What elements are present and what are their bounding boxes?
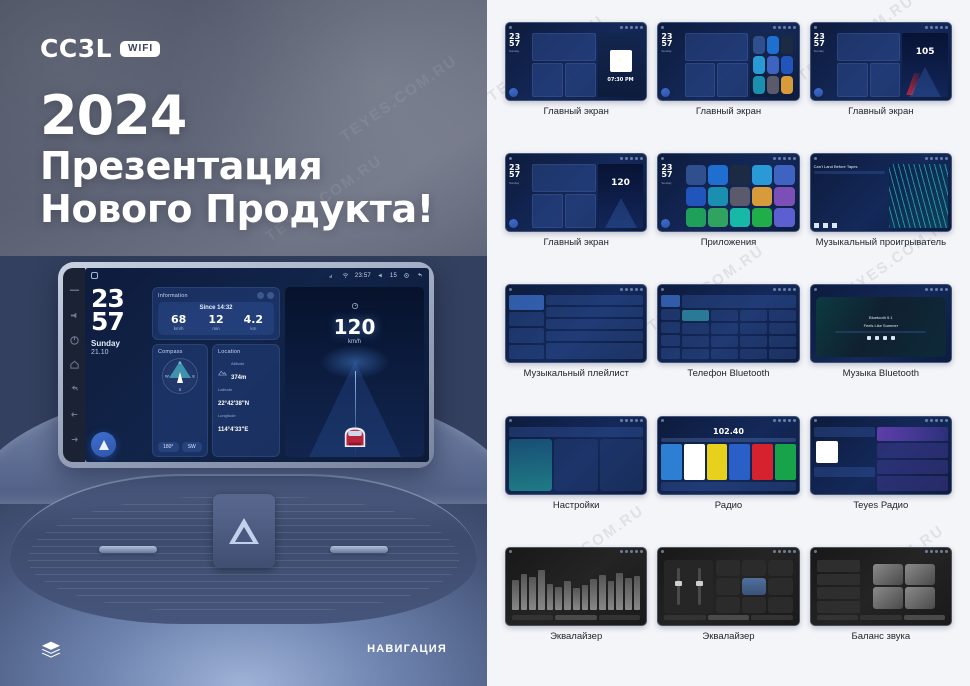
volume-up-icon[interactable] [69, 434, 80, 445]
menu-icon[interactable] [69, 285, 80, 296]
navigation-button[interactable] [509, 219, 518, 228]
volume-icon [377, 272, 384, 279]
volume-icon [935, 26, 938, 29]
preset-row[interactable] [817, 560, 861, 572]
screen-thumbnail[interactable]: Bluetooth 5.1Feels Like Summer [810, 284, 952, 363]
preset-row[interactable] [817, 601, 861, 613]
player-controls[interactable] [814, 467, 876, 477]
settings-tab[interactable] [661, 348, 680, 359]
keypad-key[interactable] [769, 336, 796, 347]
screen-thumbnail[interactable]: 2357Sunday07:30 PM [505, 22, 647, 101]
recents-tab[interactable] [661, 322, 680, 333]
app-icon[interactable] [708, 187, 728, 206]
eq-tab[interactable] [512, 615, 553, 620]
eq-slider[interactable] [625, 578, 632, 610]
wifi-icon [925, 288, 928, 291]
gallery-item-balance[interactable]: Баланс звука [810, 547, 952, 672]
preset-button[interactable] [716, 597, 740, 613]
keypad-key[interactable] [682, 310, 709, 321]
location-longitude-row: Longitude 114°4'33"E [218, 413, 274, 436]
preset-button[interactable] [742, 578, 766, 594]
keypad-key[interactable] [682, 336, 709, 347]
speaker-rear-right[interactable] [905, 587, 935, 609]
station-row[interactable] [877, 460, 948, 475]
stop-icon[interactable] [883, 336, 887, 340]
eq-slider[interactable] [616, 573, 623, 610]
balance-screen[interactable] [814, 558, 948, 622]
gear-icon [940, 157, 943, 160]
track-time: 07:30 PM [598, 77, 644, 83]
location-altitude-row: Altitude 374m [218, 361, 274, 384]
home-icon [509, 288, 512, 291]
thumb-content [658, 556, 798, 625]
tuning-scale[interactable] [661, 438, 795, 442]
road-speed-widget[interactable]: 120 [598, 164, 644, 228]
compass-direction: SW [182, 442, 203, 452]
bottom-bar: НАВИГАЦИЯ [0, 612, 487, 686]
gear-icon [788, 419, 791, 422]
eq-slider[interactable] [590, 579, 597, 610]
eq-slider[interactable] [582, 585, 589, 610]
favorites-tab[interactable] [661, 335, 680, 346]
balance-tabs[interactable] [814, 615, 948, 622]
play-pause-icon[interactable] [823, 223, 828, 228]
navigation-button[interactable] [661, 88, 670, 97]
home-icon[interactable] [91, 272, 98, 279]
screen-caption: Баланс звука [852, 631, 911, 643]
eq-tab[interactable] [599, 615, 640, 620]
screen-thumbnail[interactable] [657, 284, 799, 363]
now-playing[interactable] [814, 427, 876, 491]
eq-tabs[interactable] [509, 615, 643, 622]
radio-presets[interactable] [661, 444, 795, 480]
balance-presets[interactable] [817, 560, 861, 613]
radio-toolbar[interactable] [661, 482, 795, 491]
screen-thumbnail[interactable] [505, 416, 647, 495]
screens-grid: 2357Sunday07:30 PMГлавный экран2357Sunda… [505, 22, 952, 672]
track-row[interactable] [546, 295, 643, 305]
keypad-key[interactable] [711, 323, 738, 334]
clock-weekday: Sunday [91, 339, 147, 348]
navigation-button[interactable] [814, 88, 823, 97]
preset-tile[interactable] [661, 444, 682, 480]
eq-slider[interactable] [547, 584, 554, 610]
eq-slider[interactable] [529, 577, 536, 610]
information-card[interactable]: Information Since 14:32 68 [152, 287, 280, 340]
clock-icon [778, 26, 781, 29]
screen-thumbnail[interactable] [810, 416, 952, 495]
screen-caption: Главный экран [848, 106, 913, 118]
clock-widget[interactable]: 23 57 Sunday 21.10 [91, 287, 147, 457]
settings-screen[interactable] [509, 427, 643, 491]
keypad-key[interactable] [740, 349, 767, 360]
more-card[interactable] [600, 439, 643, 491]
location-title: Location [218, 349, 274, 355]
compass-north-label: N [179, 360, 182, 365]
preset-tile[interactable] [684, 444, 705, 480]
station-row[interactable] [877, 427, 948, 442]
gear-icon [940, 288, 943, 291]
preset-button[interactable] [716, 578, 740, 594]
preset-row[interactable] [817, 587, 861, 599]
eq-sliders[interactable] [664, 560, 713, 613]
compass-card[interactable]: Compass N E S W 180° [152, 344, 208, 457]
gallery-item-eq-2[interactable]: Эквалайзер [657, 547, 799, 672]
gear-icon[interactable] [403, 272, 410, 279]
screen-thumbnail[interactable]: 2357Sunday120 [505, 153, 647, 232]
screen-thumbnail[interactable]: 2357Sunday105 [810, 22, 952, 101]
equalizer-screen[interactable] [661, 558, 795, 622]
player-info[interactable]: Can't Land Before Tapes [814, 164, 887, 228]
screen-caption: Эквалайзер [550, 631, 602, 643]
gallery-item-home-3[interactable]: 2357Sunday105Главный экран [810, 22, 952, 147]
preset-button[interactable] [742, 560, 766, 576]
keypad-key[interactable] [740, 336, 767, 347]
home-icon [814, 550, 817, 553]
road-speed-widget[interactable]: 120 km/h [285, 287, 424, 457]
app-icon[interactable] [752, 187, 772, 206]
back-icon[interactable] [416, 272, 423, 279]
contacts-tab[interactable] [661, 309, 680, 320]
thumb-clock-date: Sunday [509, 49, 530, 53]
radio-tabs[interactable] [814, 427, 876, 437]
screen-thumbnail[interactable] [505, 284, 647, 363]
eq-presets[interactable] [716, 560, 793, 613]
back-icon [640, 550, 643, 553]
keypad-key[interactable] [711, 336, 738, 347]
keypad-key[interactable] [740, 310, 767, 321]
information-title: Information [158, 293, 188, 299]
home-icon [509, 157, 512, 160]
screen-body: 23 57 Sunday 21.10 Information [85, 283, 429, 462]
gallery-item-radio[interactable]: 102.40Радио [657, 416, 799, 541]
radio-screen[interactable]: 102.40 [661, 427, 795, 491]
eq-slider[interactable] [634, 576, 641, 610]
location-card[interactable] [565, 194, 596, 228]
visualizer [889, 164, 948, 228]
volume-icon [783, 419, 786, 422]
eq-slider[interactable] [512, 580, 519, 610]
eq-slider[interactable] [677, 568, 680, 606]
thumb-clock-date: Sunday [814, 49, 835, 53]
eq-tab[interactable] [708, 615, 749, 620]
screen-thumbnail[interactable]: 2357Sunday [657, 153, 799, 232]
preset-button[interactable] [742, 597, 766, 613]
eq-tab[interactable] [664, 615, 705, 620]
app-icon[interactable] [686, 187, 706, 206]
app-shortcuts[interactable] [750, 33, 796, 97]
screen-thumbnail[interactable] [505, 547, 647, 626]
screen-caption: Музыкальный проигрыватель [816, 237, 946, 249]
gear-icon [940, 26, 943, 29]
navigation-button[interactable] [661, 219, 670, 228]
information-card[interactable] [837, 33, 900, 61]
eq-slider[interactable] [698, 568, 701, 606]
keypad-key[interactable] [769, 349, 796, 360]
keypad-key[interactable] [740, 323, 767, 334]
track-row[interactable] [546, 331, 643, 341]
app-icon[interactable] [781, 56, 793, 74]
gallery-item-music-player[interactable]: Can't Land Before TapesМузыкальный проиг… [810, 153, 952, 278]
carplay-card[interactable] [554, 439, 597, 491]
back-icon [945, 157, 948, 160]
keypad[interactable] [682, 310, 796, 359]
speaker-front-left[interactable] [873, 564, 903, 586]
track-row[interactable] [546, 319, 643, 329]
compass-card[interactable] [532, 194, 563, 228]
previous-icon[interactable] [814, 223, 819, 228]
track-list[interactable] [546, 295, 643, 359]
gallery-item-apps[interactable]: 2357SundayПриложения [657, 153, 799, 278]
next-icon[interactable] [832, 223, 837, 228]
layers-icon[interactable] [40, 640, 62, 658]
screen-thumbnail[interactable]: 102.40 [657, 416, 799, 495]
keypad-key[interactable] [711, 349, 738, 360]
widget-row: Compass N E S W 180° [152, 344, 280, 457]
screen-thumbnail[interactable] [810, 547, 952, 626]
thumb-status-bar [506, 154, 646, 162]
thumb-clock: 2357Sunday [509, 33, 530, 97]
power-icon[interactable] [69, 335, 80, 346]
next-icon[interactable] [891, 336, 895, 340]
eq-tab[interactable] [751, 615, 792, 620]
clock-icon [778, 288, 781, 291]
home-icon[interactable] [69, 359, 80, 370]
app-icon[interactable] [767, 76, 779, 94]
screen-thumbnail[interactable]: Can't Land Before Tapes [810, 153, 952, 232]
keypad-key[interactable] [769, 310, 796, 321]
wifi-icon [773, 550, 776, 553]
speaker-rear-left[interactable] [873, 587, 903, 609]
eq-slider[interactable] [608, 581, 615, 610]
thumb-clock-date: Sunday [661, 181, 682, 185]
thumb-widgets [532, 33, 595, 97]
location-card[interactable] [717, 63, 748, 97]
gallery-item-music-playlist[interactable]: Музыкальный плейлист [505, 284, 647, 409]
trip-metric: 4.2 km [235, 314, 272, 331]
clock-icon [625, 419, 628, 422]
preset-tile[interactable] [707, 444, 728, 480]
preset-button[interactable] [768, 560, 792, 576]
app-icon[interactable] [752, 208, 772, 227]
wifi-icon [620, 550, 623, 553]
app-icon[interactable] [730, 187, 750, 206]
keypad-key[interactable] [682, 349, 709, 360]
list-item[interactable] [509, 345, 544, 360]
speed-value: 120 [598, 178, 644, 188]
eq-slider[interactable] [538, 570, 545, 610]
road-speed-widget[interactable]: 105 [902, 33, 948, 97]
wifi-card[interactable] [509, 439, 552, 491]
volume-icon[interactable] [69, 310, 80, 321]
compass-dial: N E S W [162, 358, 198, 394]
app-icon[interactable] [753, 76, 765, 94]
list-item[interactable] [509, 295, 544, 310]
compass-card[interactable] [685, 63, 716, 97]
navigation-button[interactable] [509, 88, 518, 97]
bluetooth-player[interactable]: Bluetooth 5.1Feels Like Summer [816, 297, 946, 357]
screen-caption: Музыка Bluetooth [843, 368, 919, 380]
thumb-clock: 2357Sunday [661, 33, 682, 97]
list-item[interactable] [509, 328, 544, 343]
app-icon[interactable] [708, 165, 728, 184]
location-card[interactable] [870, 63, 901, 97]
navigation-button[interactable] [91, 432, 116, 457]
eq-sliders[interactable] [509, 558, 643, 615]
wifi-icon [773, 26, 776, 29]
road-marker [906, 73, 920, 95]
app-icon[interactable] [767, 56, 779, 74]
clock-icon [625, 288, 628, 291]
app-icon[interactable] [730, 208, 750, 227]
back-icon [640, 26, 643, 29]
list-item[interactable] [509, 312, 544, 327]
volume-icon [783, 157, 786, 160]
app-icon[interactable] [767, 36, 779, 54]
now-playing-bar[interactable] [546, 343, 643, 360]
preset-button[interactable] [716, 560, 740, 576]
dialpad-tab[interactable] [661, 295, 680, 306]
app-icon[interactable] [730, 165, 750, 184]
expand-icon[interactable] [267, 292, 274, 299]
thumb-content [506, 425, 646, 494]
gallery-item-settings[interactable]: Настройки [505, 416, 647, 541]
hazard-triangle-icon [229, 518, 259, 544]
volume-icon [783, 550, 786, 553]
playlist-sidebar[interactable] [509, 295, 544, 359]
app-icon[interactable] [686, 208, 706, 227]
equalizer-screen[interactable] [509, 558, 643, 622]
gallery-item-eq-1[interactable]: Эквалайзер [505, 547, 647, 672]
app-icon[interactable] [774, 165, 794, 184]
eq-slider[interactable] [521, 574, 528, 610]
track-row[interactable] [546, 307, 643, 317]
album-art [610, 50, 632, 72]
preset-button[interactable] [768, 597, 792, 613]
speed-value: 105 [902, 47, 948, 57]
preset-row[interactable] [817, 574, 861, 586]
eq-tabs[interactable] [661, 615, 795, 622]
app-icon[interactable] [774, 208, 794, 227]
bluetooth-label: Bluetooth 5.1 [869, 315, 893, 320]
compass-card[interactable] [837, 63, 868, 97]
gauge-icon [351, 302, 359, 310]
screen-thumbnail[interactable]: 2357Sunday [657, 22, 799, 101]
number-display[interactable] [682, 295, 796, 308]
thumb-status-bar [506, 417, 646, 425]
dialer[interactable] [682, 295, 796, 359]
phone-sidebar[interactable] [661, 295, 680, 359]
thumb-status-bar [811, 285, 951, 293]
preset-button[interactable] [768, 578, 792, 594]
compass-needle-icon [177, 372, 183, 383]
eq-tab[interactable] [555, 615, 596, 620]
back-icon [945, 550, 948, 553]
gallery-item-teyes-radio[interactable]: Teyes Радио [810, 416, 952, 541]
latitude-label: Latitude [218, 387, 274, 392]
compass-east-label: E [192, 374, 195, 379]
eq-slider[interactable] [555, 587, 562, 610]
head-unit-side-rail [63, 268, 85, 462]
gallery-item-bt-phone[interactable]: Телефон Bluetooth [657, 284, 799, 409]
player-controls[interactable] [867, 336, 895, 340]
eq-slider[interactable] [599, 575, 606, 610]
volume-down-icon[interactable] [69, 409, 80, 420]
balance-pad[interactable] [863, 560, 945, 613]
app-icon[interactable] [686, 165, 706, 184]
compass-card[interactable] [532, 63, 563, 97]
thumb-clock: 2357Sunday [814, 33, 835, 97]
back-icon [640, 157, 643, 160]
app-grid[interactable] [685, 164, 796, 228]
player-controls[interactable] [814, 223, 885, 228]
information-card[interactable] [532, 164, 595, 192]
metric-value: 12 [197, 314, 234, 325]
app-icon[interactable] [753, 36, 765, 54]
gear-icon [635, 550, 638, 553]
app-icon[interactable] [708, 208, 728, 227]
previous-icon[interactable] [867, 336, 871, 340]
screen-thumbnail[interactable] [657, 547, 799, 626]
balance-tab[interactable] [817, 615, 858, 620]
progress-bar[interactable] [835, 331, 926, 333]
keypad-key[interactable] [769, 323, 796, 334]
keypad-key[interactable] [682, 323, 709, 334]
balance-tab[interactable] [904, 615, 945, 620]
station-row[interactable] [877, 476, 948, 491]
app-icon[interactable] [781, 76, 793, 94]
progress-bar[interactable] [814, 171, 885, 174]
eq-slider[interactable] [564, 581, 571, 610]
preset-tile[interactable] [729, 444, 750, 480]
back-icon[interactable] [69, 384, 80, 395]
balance-body[interactable] [814, 558, 948, 615]
play-pause-icon[interactable] [875, 336, 879, 340]
gallery-item-home-2[interactable]: 2357SundayГлавный экран [657, 22, 799, 147]
clock-icon [930, 157, 933, 160]
preset-tile[interactable] [752, 444, 773, 480]
app-icon[interactable] [781, 36, 793, 54]
gallery-item-home-1[interactable]: 2357Sunday07:30 PMГлавный экран [505, 22, 647, 147]
app-icon[interactable] [753, 56, 765, 74]
wifi-icon [773, 288, 776, 291]
gallery-item-bt-music[interactable]: Bluetooth 5.1Feels Like SummerМузыка Blu… [810, 284, 952, 409]
information-card[interactable] [532, 33, 595, 61]
information-card[interactable] [685, 33, 748, 61]
gallery-item-home-4[interactable]: 2357Sunday120Главный экран [505, 153, 647, 278]
teyes-radio-screen[interactable] [814, 427, 948, 491]
location-card[interactable]: Location Altitude 374m Latitude [212, 344, 280, 457]
settings-tabs[interactable] [509, 427, 643, 437]
station-list[interactable] [877, 427, 948, 491]
location-card[interactable] [565, 63, 596, 97]
preset-tile[interactable] [775, 444, 796, 480]
balance-tab[interactable] [860, 615, 901, 620]
station-row[interactable] [877, 443, 948, 458]
settings-cards[interactable] [509, 439, 643, 491]
wifi-icon [773, 419, 776, 422]
music-widget[interactable]: 07:30 PM [598, 33, 644, 97]
app-icon[interactable] [752, 165, 772, 184]
back-icon [793, 550, 796, 553]
speaker-front-right[interactable] [905, 564, 935, 586]
app-icon[interactable] [774, 187, 794, 206]
keypad-key[interactable] [711, 310, 738, 321]
refresh-icon[interactable] [257, 292, 264, 299]
hazard-light-button[interactable] [213, 494, 275, 568]
volume-icon [630, 419, 633, 422]
eq-slider[interactable] [573, 588, 580, 610]
